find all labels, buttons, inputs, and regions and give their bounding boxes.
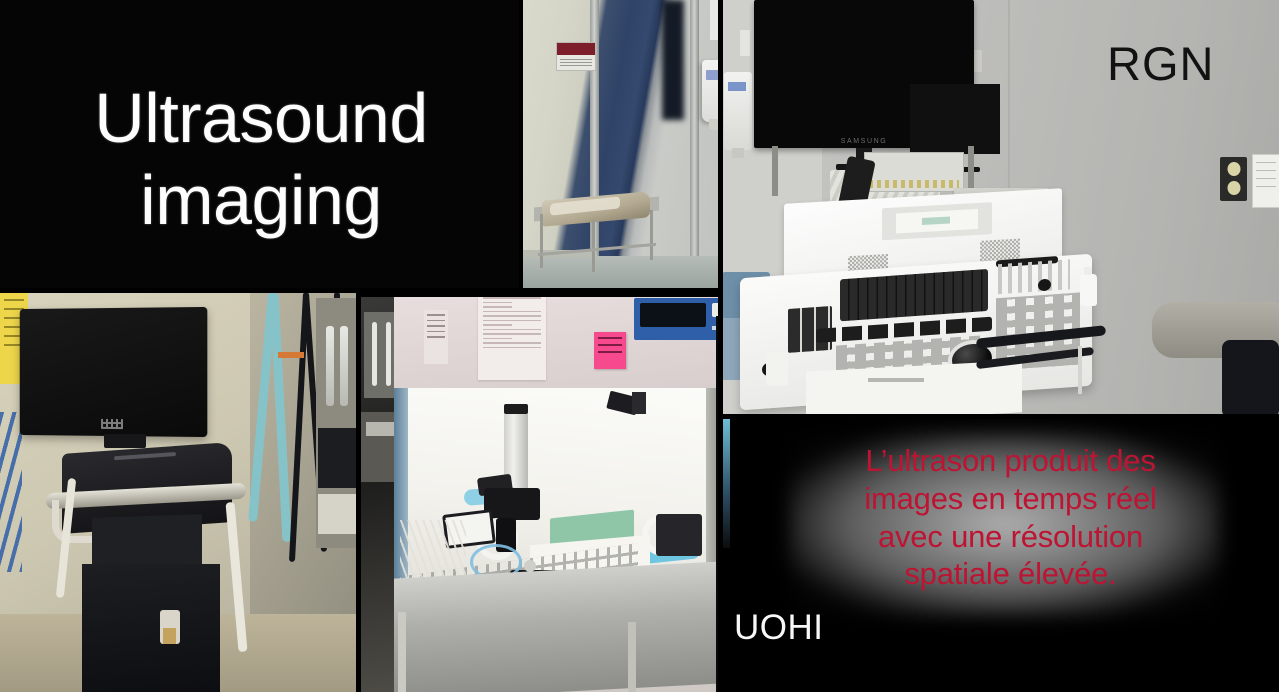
composite-video-frame: Ultrasound imaging — [0, 0, 1279, 692]
monitor-neck — [104, 434, 146, 448]
connector-ports — [869, 180, 959, 188]
outlet-socket — [1227, 162, 1240, 176]
rgn-watermark: RGN — [1107, 36, 1214, 91]
ultrasound-console — [740, 196, 1120, 418]
exam-chair — [1222, 340, 1279, 418]
panel-seam-right-horizontal — [722, 414, 1279, 419]
monitor-mount-arm — [968, 146, 974, 192]
control-display — [640, 303, 706, 327]
portable-cart-panel — [0, 292, 360, 692]
linen-cart — [534, 196, 659, 272]
instruction-sheet — [478, 294, 546, 380]
console-tgc-sliders[interactable] — [998, 259, 1070, 294]
caption-line-2: images en temps réel — [762, 480, 1259, 518]
cart-display-monitor — [20, 307, 208, 437]
wall-sign-header — [557, 43, 595, 55]
cabinet-certification-tag — [424, 310, 448, 364]
teal-hose — [269, 292, 291, 542]
gel-bottle — [1080, 274, 1097, 306]
cart-tower-body — [82, 564, 220, 692]
overhead-clamp-post — [632, 392, 646, 414]
caption-line-3: avec une résolution — [762, 518, 1259, 556]
cable-hook — [52, 500, 97, 543]
column-cap — [504, 404, 528, 414]
wall-sign-lines — [557, 55, 595, 68]
cart-leg — [540, 214, 543, 268]
cart-leg — [592, 220, 595, 272]
doorway-shadow — [662, 0, 684, 120]
display-monitor-small — [910, 84, 1000, 154]
biosafety-cabinet-header — [394, 292, 722, 391]
caption-bottom-bar — [722, 666, 1279, 692]
probe-tip — [163, 628, 176, 644]
caption-line-1: L’ultrason produit des — [762, 442, 1259, 480]
note-line-1 — [598, 337, 622, 339]
panel-seam-horizontal — [0, 288, 722, 293]
caption-panel: L’ultrason produit des images en temps r… — [722, 418, 1279, 692]
dispenser-label — [728, 82, 746, 91]
wall-sign — [556, 42, 596, 71]
gel-bottle-cap — [1084, 267, 1092, 275]
camera-module — [656, 514, 702, 556]
lab-cabinet-panel — [360, 292, 722, 692]
signal-breakout-box — [864, 152, 964, 192]
data-wall-plate — [1252, 154, 1279, 208]
probe-holder — [766, 352, 788, 386]
ultrasound-room-panel: SAMSUNG — [722, 0, 1279, 418]
panel-seam-vertical-upper — [519, 0, 523, 292]
french-caption-text: L’ultrason produit des images en temps r… — [762, 442, 1259, 593]
cart-leg — [650, 210, 653, 260]
blue-wall-stripes — [0, 412, 22, 572]
rack-module — [318, 428, 358, 488]
monitor-logo-dots — [101, 419, 123, 429]
stage-knob[interactable] — [524, 560, 536, 572]
note-line-3 — [598, 351, 622, 353]
light-switch-plate[interactable] — [740, 30, 750, 56]
uohi-watermark: UOHI — [734, 608, 824, 648]
dispenser-nozzle — [732, 148, 744, 158]
monitor-mount-arm — [772, 146, 778, 196]
pink-sticky-note — [594, 332, 626, 369]
gas-flowmeter-rack — [316, 298, 360, 548]
flowmeter-tube — [340, 326, 348, 406]
panel-seam-vertical — [718, 0, 723, 692]
console-base — [806, 360, 1022, 418]
note-line-2 — [598, 344, 622, 346]
regulator-tube — [372, 322, 377, 386]
console-document-slot — [882, 202, 992, 240]
title-line-1: Ultrasound — [0, 78, 522, 160]
rack-module-lower — [318, 494, 358, 534]
panel-seam-vertical-lower — [356, 292, 361, 692]
title-card-text: Ultrasound imaging — [0, 78, 522, 242]
cabinet-base-deck — [394, 561, 722, 692]
probe-clip — [160, 610, 180, 644]
cart-rail — [538, 243, 656, 256]
cabinet-control-panel[interactable] — [634, 298, 722, 340]
flowmeter-tube — [326, 326, 334, 406]
bench-leg — [398, 612, 406, 692]
title-card-panel: Ultrasound imaging — [0, 0, 522, 292]
regulator-tube — [386, 322, 391, 386]
console-card — [896, 209, 978, 234]
wire-harness — [400, 520, 466, 582]
deck-brand-label — [114, 452, 176, 460]
panel-edge-artifact — [722, 418, 730, 548]
caption-line-4: spatiale élevée. — [762, 555, 1259, 593]
bench-leg — [628, 622, 636, 692]
console-card-graphic — [922, 216, 950, 225]
outlet-socket — [1227, 181, 1240, 195]
orange-label-tag — [278, 352, 304, 358]
title-line-2: imaging — [0, 160, 522, 242]
power-outlet[interactable] — [1220, 157, 1247, 201]
probe-stand — [1078, 346, 1082, 394]
corridor-panel — [522, 0, 722, 292]
console-base-label — [868, 378, 924, 382]
monitor-brand-label: SAMSUNG — [841, 138, 888, 145]
door-jamb-right — [690, 0, 699, 292]
console-keyboard[interactable] — [840, 269, 988, 321]
sanitizer-dispenser — [724, 72, 752, 150]
